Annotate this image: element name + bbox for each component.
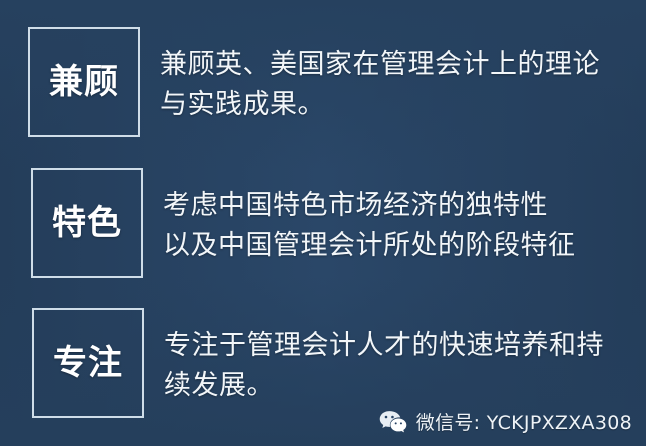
slide-canvas: 兼顾 兼顾英、美国家在管理会计上的理论 与实践成果。 特色 考虑中国特色市场经济… bbox=[0, 0, 646, 446]
wechat-id-text: 微信号: YCKJPXZXA308 bbox=[416, 408, 632, 435]
description-line: 考虑中国特色市场经济的独特性 bbox=[163, 186, 576, 226]
description-line: 与实践成果。 bbox=[160, 85, 600, 125]
keyword-box: 特色 bbox=[31, 168, 143, 278]
watermark: 微信号: YCKJPXZXA308 bbox=[379, 408, 632, 435]
keyword-label: 特色 bbox=[52, 206, 122, 240]
keyword-box: 专注 bbox=[32, 308, 144, 418]
description-line: 兼顾英、美国家在管理会计上的理论 bbox=[160, 45, 600, 85]
keyword-box: 兼顾 bbox=[28, 27, 140, 137]
description-line: 以及中国管理会计所处的阶段特征 bbox=[163, 226, 576, 266]
wechat-icon bbox=[379, 410, 407, 434]
feature-description: 考虑中国特色市场经济的独特性 以及中国管理会计所处的阶段特征 bbox=[163, 168, 576, 266]
description-line: 续发展。 bbox=[164, 366, 604, 406]
keyword-label: 专注 bbox=[53, 346, 123, 380]
description-line: 专注于管理会计人才的快速培养和持 bbox=[164, 326, 604, 366]
feature-description: 专注于管理会计人才的快速培养和持 续发展。 bbox=[164, 308, 604, 406]
feature-row: 兼顾 兼顾英、美国家在管理会计上的理论 与实践成果。 bbox=[28, 27, 600, 137]
feature-row: 特色 考虑中国特色市场经济的独特性 以及中国管理会计所处的阶段特征 bbox=[31, 168, 576, 278]
feature-row: 专注 专注于管理会计人才的快速培养和持 续发展。 bbox=[32, 308, 604, 418]
feature-description: 兼顾英、美国家在管理会计上的理论 与实践成果。 bbox=[160, 27, 600, 125]
keyword-label: 兼顾 bbox=[49, 65, 119, 99]
